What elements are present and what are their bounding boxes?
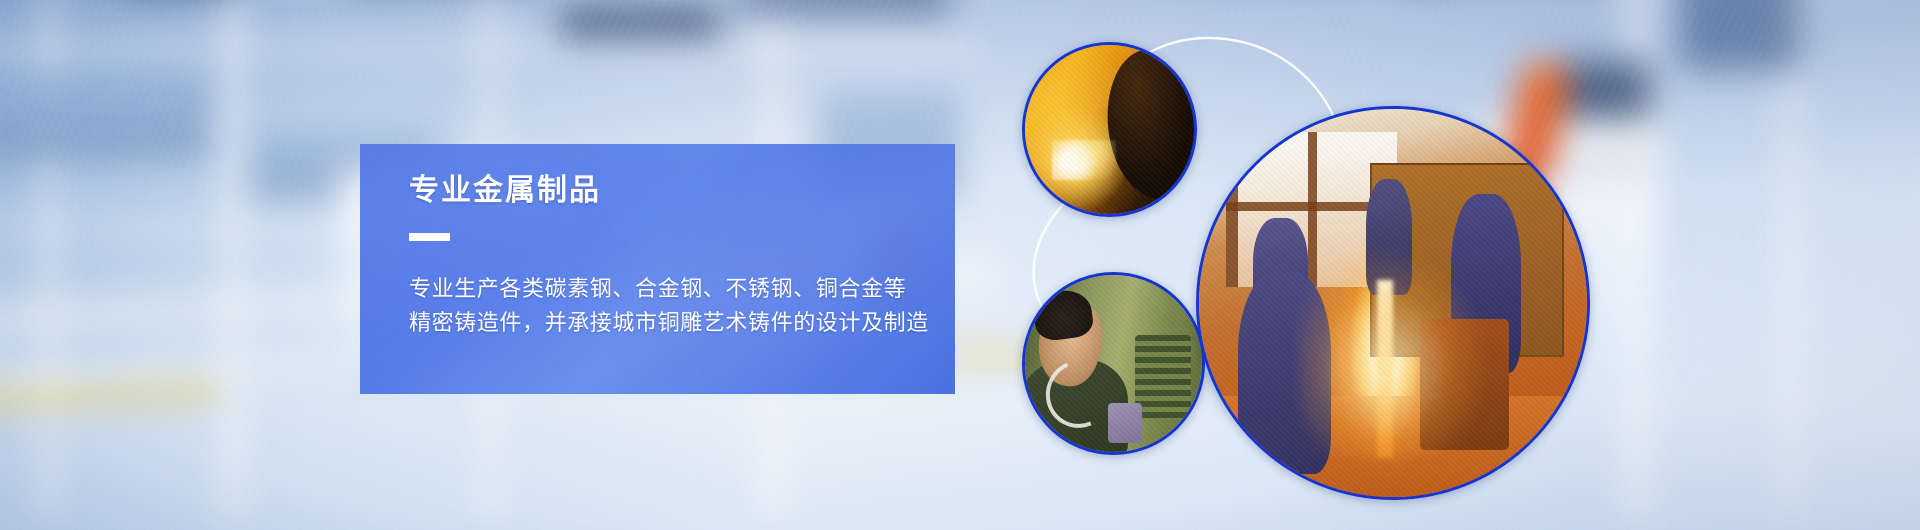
photo-cluster — [0, 0, 1920, 530]
panel-description: 专业生产各类碳素钢、合金钢、不锈钢、铜合金等 精密铸造件，并承接城市铜雕艺术铸件… — [409, 272, 937, 340]
panel-divider — [409, 233, 450, 241]
casting-photo — [1196, 106, 1590, 500]
hero-banner: 专业金属制品 专业生产各类碳素钢、合金钢、不锈钢、铜合金等 精密铸造件，并承接城… — [0, 0, 1920, 530]
photo-grain — [1025, 275, 1202, 452]
panel-description-line-2: 精密铸造件，并承接城市铜雕艺术铸件的设计及制造 — [409, 306, 937, 340]
photo-grain — [1025, 45, 1194, 214]
text-panel: 专业金属制品 专业生产各类碳素钢、合金钢、不锈钢、铜合金等 精密铸造件，并承接城… — [360, 144, 955, 394]
welding-photo — [1022, 42, 1197, 217]
panel-content: 专业金属制品 专业生产各类碳素钢、合金钢、不锈钢、铜合金等 精密铸造件，并承接城… — [409, 144, 937, 340]
photo-grain — [1199, 109, 1587, 497]
panel-headline: 专业金属制品 — [409, 174, 937, 207]
inspection-photo — [1022, 272, 1205, 455]
panel-description-line-1: 专业生产各类碳素钢、合金钢、不锈钢、铜合金等 — [409, 272, 937, 306]
